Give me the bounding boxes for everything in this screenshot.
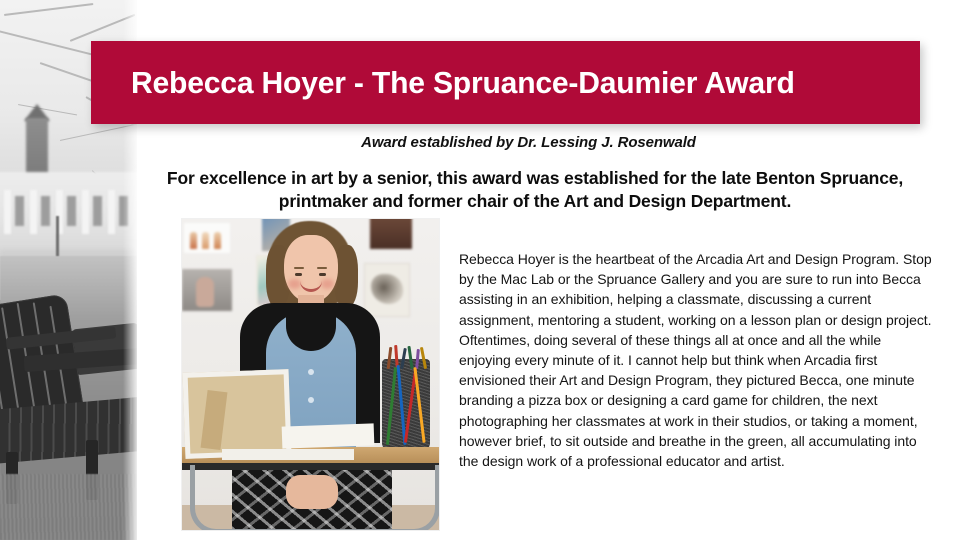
title-banner: Rebecca Hoyer - The Spruance-Daumier Awa… [91, 41, 920, 124]
artwork-figure [182, 269, 232, 311]
award-established-line: Award established by Dr. Lessing J. Rose… [137, 134, 920, 151]
building-column [108, 190, 115, 234]
paper-sheet [282, 423, 375, 448]
pinafore-button [308, 397, 314, 403]
building-column [4, 190, 11, 234]
recipient-photo [182, 219, 439, 530]
award-description: For excellence in art by a senior, this … [160, 167, 910, 213]
award-slide: Rebecca Hoyer - The Spruance-Daumier Awa… [0, 0, 960, 540]
picture-frame [183, 369, 292, 459]
building-column [82, 190, 89, 234]
artwork-sketch [364, 263, 410, 317]
building-window [41, 196, 50, 226]
pinafore-button [308, 369, 314, 375]
hair-side [334, 245, 358, 307]
chair-frame [190, 465, 439, 530]
paper-strip [222, 449, 354, 460]
building-window [93, 196, 102, 226]
building-column [30, 190, 37, 234]
artwork-dark [370, 219, 412, 249]
citation-paragraph: Rebecca Hoyer is the heartbeat of the Ar… [459, 249, 934, 471]
building-window [15, 196, 24, 226]
page-title: Rebecca Hoyer - The Spruance-Daumier Awa… [131, 65, 795, 101]
colored-pencil-cup [382, 359, 430, 451]
grass [0, 474, 137, 540]
building-window [67, 196, 76, 226]
artwork-bottles [184, 223, 230, 253]
face [284, 235, 338, 303]
